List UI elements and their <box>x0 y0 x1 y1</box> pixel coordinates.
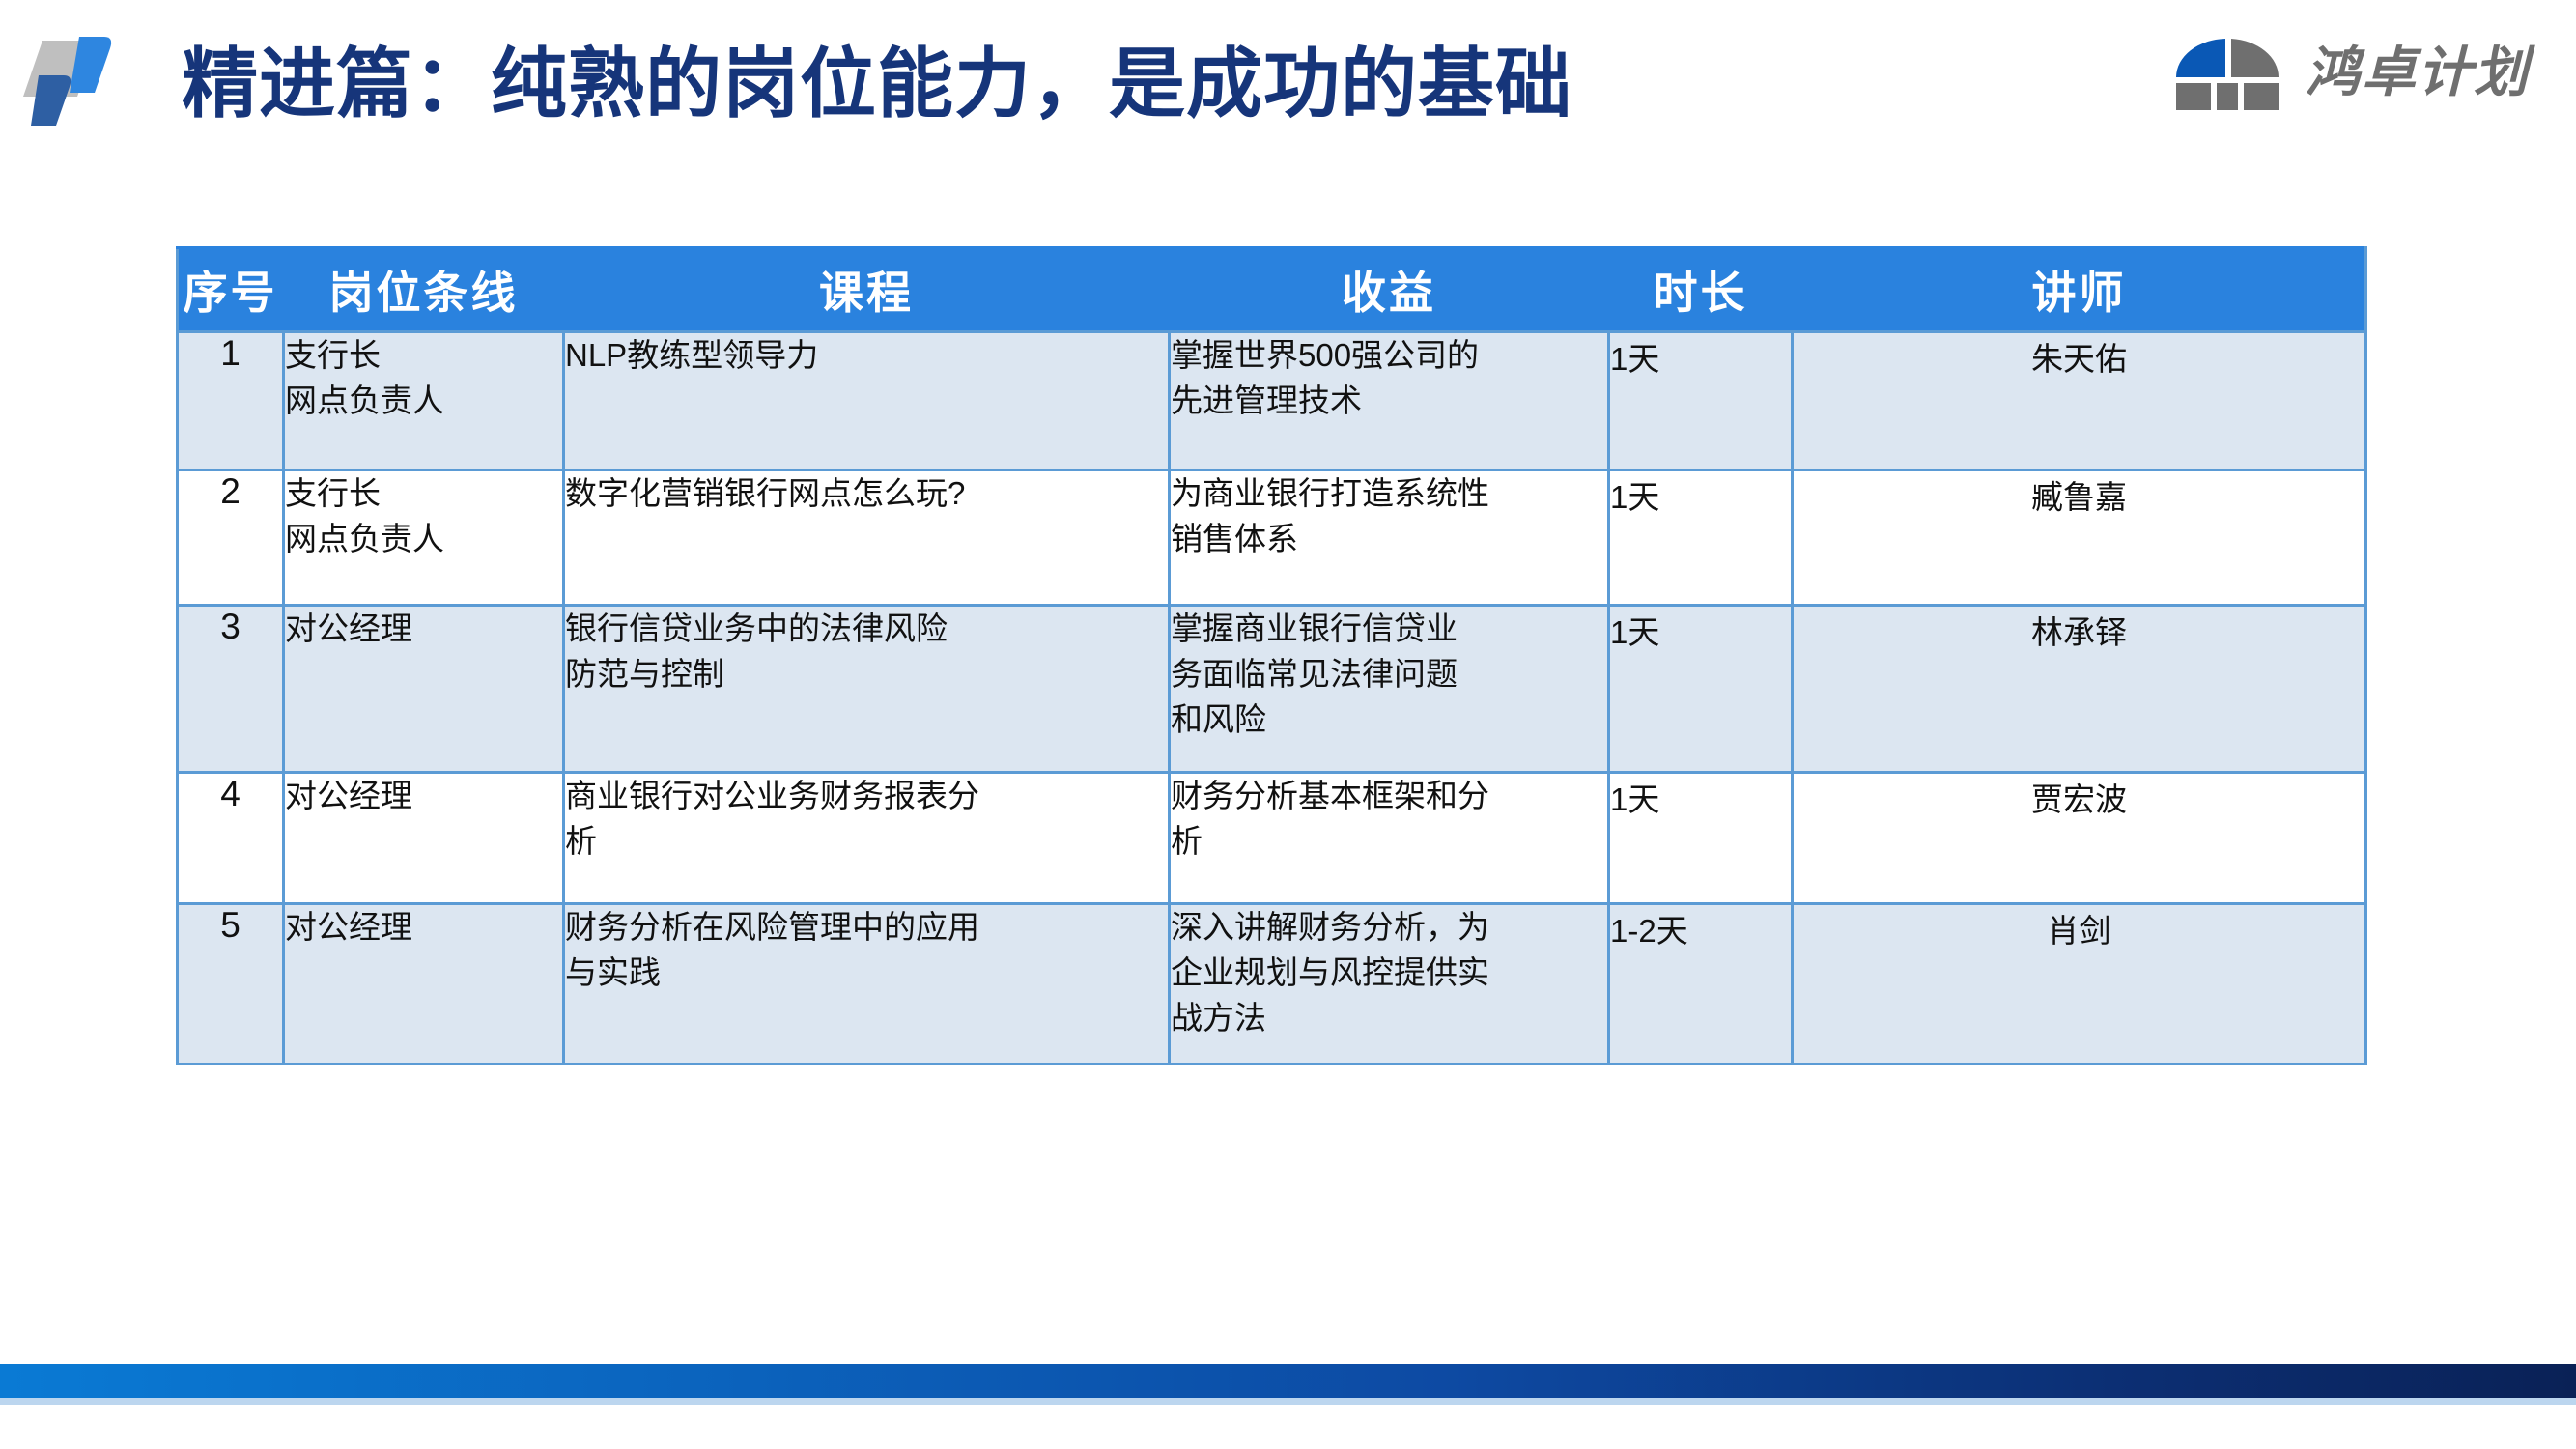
cell-text-line: 与实践 <box>565 951 1168 996</box>
cell-teacher: 林承铎 <box>1793 606 2366 773</box>
cell-text-line: 析 <box>1171 819 1607 865</box>
column-header-course: 课程 <box>564 248 1170 332</box>
cell-course: 数字化营销银行网点怎么玩? <box>564 470 1170 606</box>
course-table: 序号 岗位条线 课程 收益 时长 讲师 1 支行长网点负责人 NLP教练型领导力… <box>176 246 2367 1065</box>
cell-text-line: 和风险 <box>1171 697 1607 743</box>
slide-header: 精进篇：纯熟的岗位能力，是成功的基础 鸿卓计划 <box>0 0 2576 179</box>
cell-course: 银行信贷业务中的法律风险防范与控制 <box>564 606 1170 773</box>
cell-course: 财务分析在风险管理中的应用与实践 <box>564 904 1170 1065</box>
brand-name: 鸿卓计划 <box>2306 45 2530 99</box>
table-body: 1 支行长网点负责人 NLP教练型领导力 掌握世界500强公司的先进管理技术 1… <box>178 332 2366 1065</box>
page-title: 精进篇：纯熟的岗位能力，是成功的基础 <box>182 37 1572 132</box>
cell-text-line: 掌握世界500强公司的 <box>1171 333 1607 379</box>
cell-benefit: 深入讲解财务分析，为企业规划与风控提供实战方法 <box>1170 904 1609 1065</box>
cell-teacher: 贾宏波 <box>1793 773 2366 904</box>
footer-underline <box>0 1398 2576 1405</box>
cell-text-line: 先进管理技术 <box>1171 379 1607 424</box>
cell-duration: 1天 <box>1609 773 1793 904</box>
cell-text-line: 对公经理 <box>285 774 562 819</box>
parallelogram-ribbon-icon <box>21 21 127 128</box>
cell-line: 对公经理 <box>284 606 564 773</box>
table-row: 1 支行长网点负责人 NLP教练型领导力 掌握世界500强公司的先进管理技术 1… <box>178 332 2366 470</box>
cell-text-line: 对公经理 <box>285 607 562 652</box>
cell-line: 支行长网点负责人 <box>284 332 564 470</box>
gradient-bar-decoration <box>0 1364 2576 1398</box>
cell-text-line: 战方法 <box>1171 996 1607 1041</box>
cell-text-line: 财务分析在风险管理中的应用 <box>565 905 1168 951</box>
cell-teacher: 臧鲁嘉 <box>1793 470 2366 606</box>
cell-teacher: 朱天佑 <box>1793 332 2366 470</box>
table-row: 4 对公经理 商业银行对公业务财务报表分析 财务分析基本框架和分析 1天 贾宏波 <box>178 773 2366 904</box>
cell-line: 支行长网点负责人 <box>284 470 564 606</box>
cell-benefit: 掌握商业银行信贷业务面临常见法律问题和风险 <box>1170 606 1609 773</box>
brand-logo: 鸿卓计划 <box>2170 33 2530 112</box>
cell-text-line: 深入讲解财务分析，为 <box>1171 905 1607 951</box>
column-header-teacher: 讲师 <box>1793 248 2366 332</box>
cell-text-line: 销售体系 <box>1171 517 1607 562</box>
cell-line: 对公经理 <box>284 904 564 1065</box>
cell-seq: 1 <box>178 332 284 470</box>
cell-text-line: 务面临常见法律问题 <box>1171 652 1607 697</box>
table-row: 3 对公经理 银行信贷业务中的法律风险防范与控制 掌握商业银行信贷业务面临常见法… <box>178 606 2366 773</box>
cell-duration: 1天 <box>1609 332 1793 470</box>
cell-seq: 2 <box>178 470 284 606</box>
cell-text-line: 防范与控制 <box>565 652 1168 697</box>
cell-text-line: 支行长 <box>285 333 562 379</box>
cell-duration: 1天 <box>1609 470 1793 606</box>
cell-duration: 1天 <box>1609 606 1793 773</box>
cell-seq: 4 <box>178 773 284 904</box>
cell-text-line: 财务分析基本框架和分 <box>1171 774 1607 819</box>
cell-course: NLP教练型领导力 <box>564 332 1170 470</box>
table-row: 5 对公经理 财务分析在风险管理中的应用与实践 深入讲解财务分析，为企业规划与风… <box>178 904 2366 1065</box>
cell-text-line: 商业银行对公业务财务报表分 <box>565 774 1168 819</box>
cell-benefit: 为商业银行打造系统性销售体系 <box>1170 470 1609 606</box>
cell-text-line: 银行信贷业务中的法律风险 <box>565 607 1168 652</box>
cell-duration: 1-2天 <box>1609 904 1793 1065</box>
column-header-dur: 时长 <box>1609 248 1793 332</box>
cell-text-line: 析 <box>565 819 1168 865</box>
dome-chart-icon <box>2170 35 2284 110</box>
cell-text-line: 网点负责人 <box>285 517 562 562</box>
cell-seq: 5 <box>178 904 284 1065</box>
cell-text-line: NLP教练型领导力 <box>565 333 1168 379</box>
cell-line: 对公经理 <box>284 773 564 904</box>
column-header-line: 岗位条线 <box>284 248 564 332</box>
table-header: 序号 岗位条线 课程 收益 时长 讲师 <box>178 248 2366 332</box>
table-header-row: 序号 岗位条线 课程 收益 时长 讲师 <box>178 248 2366 332</box>
cell-text-line: 企业规划与风控提供实 <box>1171 951 1607 996</box>
table-row: 2 支行长网点负责人 数字化营销银行网点怎么玩? 为商业银行打造系统性销售体系 … <box>178 470 2366 606</box>
cell-text-line: 为商业银行打造系统性 <box>1171 471 1607 517</box>
cell-text-line: 网点负责人 <box>285 379 562 424</box>
column-header-benefit: 收益 <box>1170 248 1609 332</box>
course-table-container: 序号 岗位条线 课程 收益 时长 讲师 1 支行长网点负责人 NLP教练型领导力… <box>176 246 2364 1065</box>
cell-benefit: 财务分析基本框架和分析 <box>1170 773 1609 904</box>
cell-text-line: 掌握商业银行信贷业 <box>1171 607 1607 652</box>
cell-seq: 3 <box>178 606 284 773</box>
column-header-seq: 序号 <box>178 248 284 332</box>
cell-course: 商业银行对公业务财务报表分析 <box>564 773 1170 904</box>
cell-benefit: 掌握世界500强公司的先进管理技术 <box>1170 332 1609 470</box>
cell-text-line: 支行长 <box>285 471 562 517</box>
cell-text-line: 对公经理 <box>285 905 562 951</box>
cell-teacher: 肖剑 <box>1793 904 2366 1065</box>
cell-text-line: 数字化营销银行网点怎么玩? <box>565 471 1168 517</box>
